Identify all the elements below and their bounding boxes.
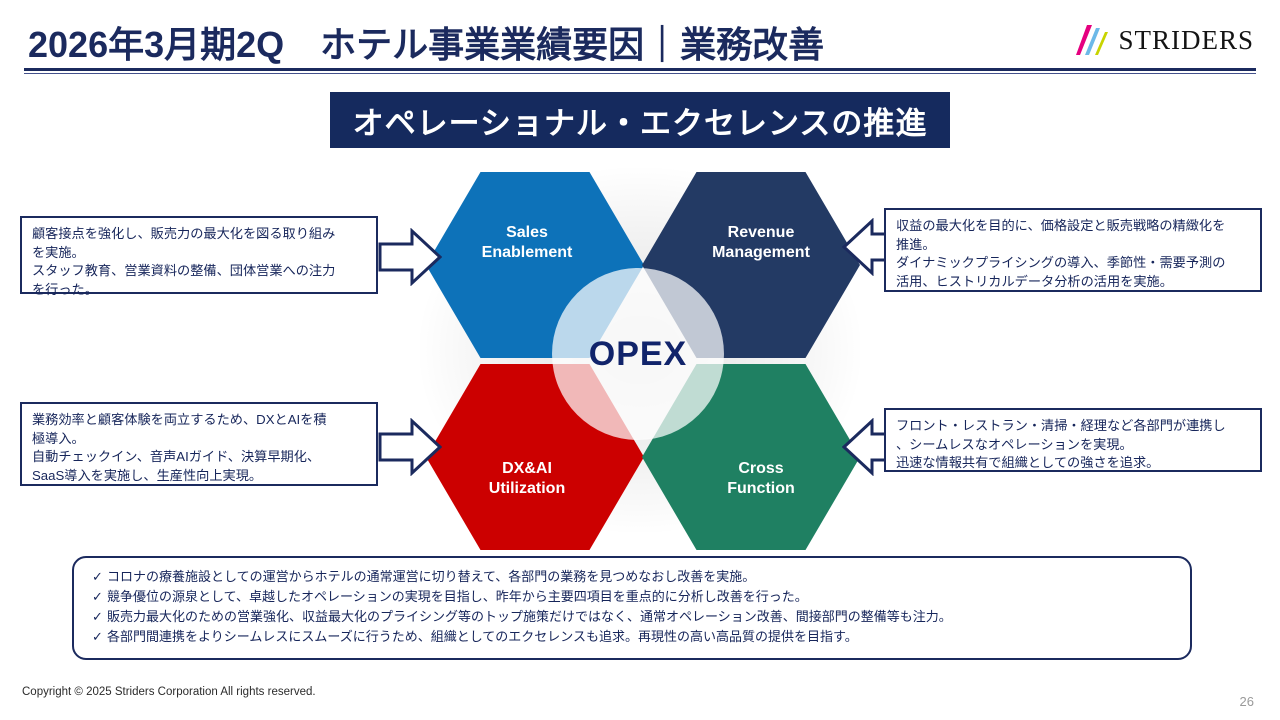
- arrow-right-sales-icon: [378, 228, 442, 286]
- summary-item-text: 販売力最大化のための営業強化、収益最大化のプライシング等のトップ施策だけではなく…: [107, 608, 952, 626]
- check-icon: ✓: [92, 608, 107, 626]
- hex-label-sales-enablement: Sales Enablement: [482, 223, 573, 264]
- check-icon: ✓: [92, 568, 107, 586]
- callout-line: 極導入。: [32, 430, 367, 449]
- section-banner: オペレーショナル・エクセレンスの推進: [330, 92, 950, 148]
- hex-label-line2: Management: [712, 244, 810, 261]
- check-icon: ✓: [92, 588, 107, 606]
- callout-cross-function: フロント・レストラン・清掃・経理など各部門が連携し 、シームレスなオペレーション…: [884, 408, 1262, 472]
- opex-hexagon-diagram: Sales Enablement Revenue Management DX&A…: [420, 168, 860, 532]
- footer-copyright: Copyright © 2025 Striders Corporation Al…: [22, 686, 316, 698]
- callout-line: 、シームレスなオペレーションを実現。: [896, 436, 1251, 455]
- hex-label-line2: Function: [727, 480, 795, 497]
- check-icon: ✓: [92, 628, 107, 646]
- callout-line: を実施。: [32, 244, 367, 263]
- brand-logo: STRIDERS: [1074, 22, 1254, 58]
- opex-center-label: OPEX: [589, 335, 687, 374]
- summary-item-text: 各部門間連携をよりシームレスにスムーズに行うため、組織としてのエクセレンスも追求…: [107, 628, 858, 646]
- slide-header: 2026年3月期2Q ホテル事業業績要因｜業務改善 STRIDERS: [0, 0, 1280, 78]
- hex-label-line1: Cross: [738, 460, 783, 477]
- arrow-right-dxai-icon: [378, 418, 442, 476]
- callout-line: ダイナミックプライシングの導入、季節性・需要予測の: [896, 254, 1251, 273]
- hex-label-line1: Sales: [506, 224, 548, 241]
- hex-label-cross-function: Cross Function: [727, 459, 795, 500]
- page-title: 2026年3月期2Q ホテル事業業績要因｜業務改善: [28, 16, 824, 68]
- callout-line: フロント・レストラン・清掃・経理など各部門が連携し: [896, 417, 1251, 436]
- callout-sales-enablement: 顧客接点を強化し、販売力の最大化を図る取り組み を実施。 スタッフ教育、営業資料…: [20, 216, 378, 294]
- list-item: ✓ 競争優位の源泉として、卓越したオペレーションの実現を目指し、昨年から主要四項…: [92, 588, 1172, 606]
- summary-item-text: コロナの療養施設としての運営からホテルの通常運営に切り替えて、各部門の業務を見つ…: [107, 568, 755, 586]
- callout-line: 推進。: [896, 236, 1251, 255]
- callout-line: SaaS導入を実施し、生産性向上実現。: [32, 467, 367, 486]
- callout-line: 業務効率と顧客体験を両立するため、DXとAIを積: [32, 411, 367, 430]
- brand-wordmark: STRIDERS: [1118, 25, 1254, 56]
- callout-line: スタッフ教育、営業資料の整備、団体営業への注力: [32, 262, 367, 281]
- opex-center-circle: OPEX: [552, 268, 724, 440]
- striders-mark-icon: [1074, 23, 1116, 57]
- callout-line: を行った。: [32, 281, 367, 300]
- hex-label-line2: Enablement: [482, 244, 573, 261]
- page-number: 26: [1240, 694, 1254, 709]
- summary-item-text: 競争優位の源泉として、卓越したオペレーションの実現を目指し、昨年から主要四項目を…: [107, 588, 808, 606]
- hex-label-line2: Utilization: [489, 480, 565, 497]
- callout-line: 迅速な情報共有で組織としての強さを追求。: [896, 454, 1251, 473]
- callout-revenue-management: 収益の最大化を目的に、価格設定と販売戦略の精緻化を 推進。 ダイナミックプライシ…: [884, 208, 1262, 292]
- list-item: ✓ コロナの療養施設としての運営からホテルの通常運営に切り替えて、各部門の業務を…: [92, 568, 1172, 586]
- hex-label-revenue-management: Revenue Management: [712, 223, 810, 264]
- hex-label-dxai-utilization: DX&AI Utilization: [489, 459, 565, 500]
- section-banner-label: オペレーショナル・エクセレンスの推進: [353, 98, 928, 143]
- summary-box: ✓ コロナの療養施設としての運営からホテルの通常運営に切り替えて、各部門の業務を…: [72, 556, 1192, 660]
- list-item: ✓ 各部門間連携をよりシームレスにスムーズに行うため、組織としてのエクセレンスも…: [92, 628, 1172, 646]
- callout-line: 収益の最大化を目的に、価格設定と販売戦略の精緻化を: [896, 217, 1251, 236]
- header-rule-thin: [24, 73, 1256, 74]
- list-item: ✓ 販売力最大化のための営業強化、収益最大化のプライシング等のトップ施策だけでは…: [92, 608, 1172, 626]
- header-rule-thick: [24, 68, 1256, 71]
- callout-dxai-utilization: 業務効率と顧客体験を両立するため、DXとAIを積 極導入。 自動チェックイン、音…: [20, 402, 378, 486]
- callout-line: 顧客接点を強化し、販売力の最大化を図る取り組み: [32, 225, 367, 244]
- hex-label-line1: Revenue: [728, 224, 795, 241]
- callout-line: 活用、ヒストリカルデータ分析の活用を実施。: [896, 273, 1251, 292]
- hex-label-line1: DX&AI: [502, 460, 552, 477]
- callout-line: 自動チェックイン、音声AIガイド、決算早期化、: [32, 448, 367, 467]
